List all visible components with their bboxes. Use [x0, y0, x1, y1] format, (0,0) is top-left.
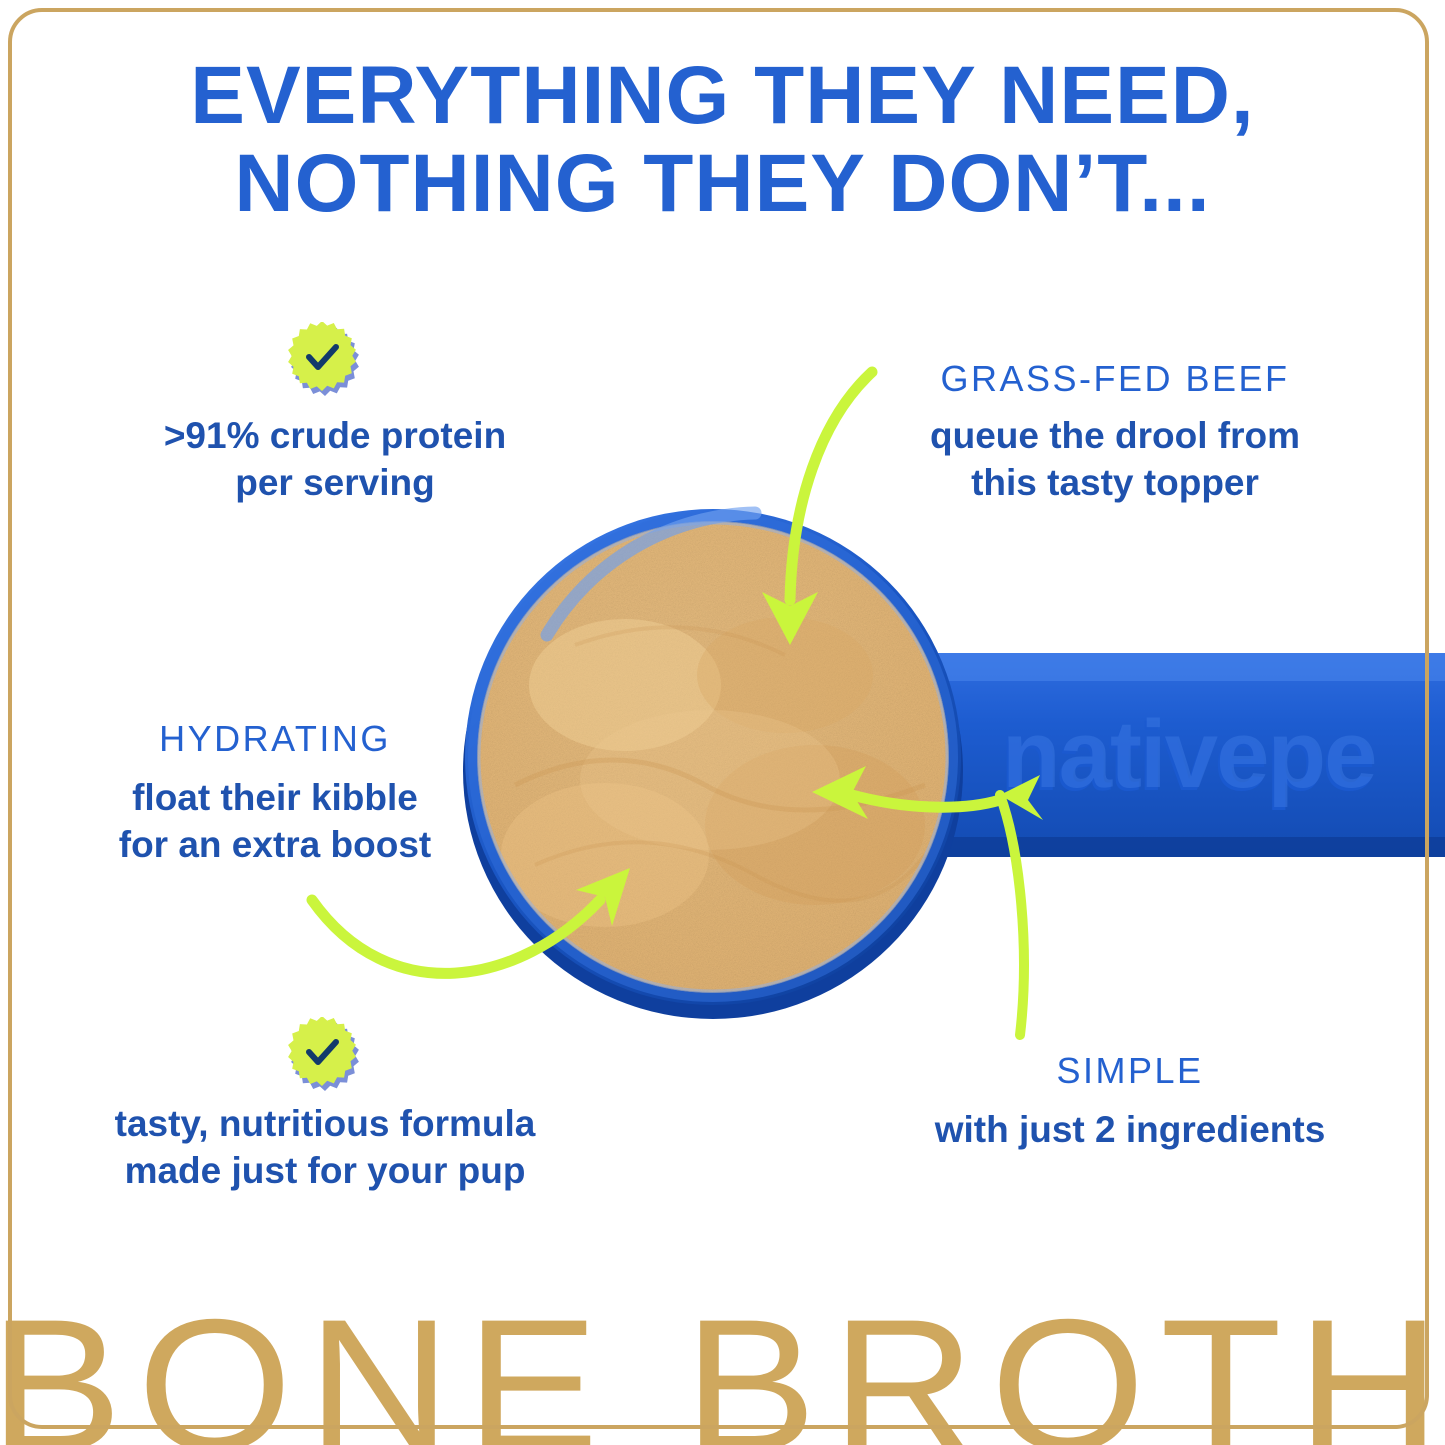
callout-hydrating: HYDRATING float their kibble for an extr… — [40, 718, 510, 868]
callout-crude-protein: >91% crude protein per serving — [75, 412, 595, 506]
page-title: EVERYTHING THEY NEED, NOTHING THEY DON’T… — [0, 52, 1445, 228]
headline-line-2: NOTHING THEY DON’T... — [0, 140, 1445, 228]
callout-line: with just 2 ingredients — [885, 1106, 1375, 1153]
wordmark-text: BONE BROTH — [0, 1300, 1445, 1445]
callout-grass-fed-beef-heading: GRASS-FED BEEF — [865, 358, 1365, 400]
check-badge-icon-protein — [287, 322, 363, 398]
product-photo-scoop: nativepe nativepe — [455, 485, 1445, 1085]
callout-simple-body: with just 2 ingredients — [885, 1106, 1375, 1153]
scoop-handle: nativepe nativepe — [885, 653, 1445, 857]
product-wordmark: BONE BROTH — [0, 1300, 1445, 1445]
callout-simple: SIMPLE with just 2 ingredients — [885, 1050, 1375, 1153]
check-badge-icon-formula — [287, 1017, 363, 1093]
callout-line: per serving — [75, 459, 595, 506]
callout-line: tasty, nutritious formula — [65, 1100, 585, 1147]
callout-hydrating-heading: HYDRATING — [40, 718, 510, 760]
callout-line: queue the drool from — [865, 412, 1365, 459]
callout-line: float their kibble — [40, 774, 510, 821]
callout-line: made just for your pup — [65, 1147, 585, 1194]
callout-line: >91% crude protein — [75, 412, 595, 459]
scoop-bowl — [463, 509, 963, 1019]
callout-tasty-nutritious-body: tasty, nutritious formula made just for … — [65, 1100, 585, 1194]
callout-grass-fed-beef: GRASS-FED BEEF queue the drool from this… — [865, 358, 1365, 506]
svg-text:nativepe: nativepe — [1002, 701, 1375, 808]
callout-crude-protein-body: >91% crude protein per serving — [75, 412, 595, 506]
callout-grass-fed-beef-body: queue the drool from this tasty topper — [865, 412, 1365, 506]
headline-line-1: EVERYTHING THEY NEED, — [190, 50, 1254, 141]
callout-tasty-nutritious: tasty, nutritious formula made just for … — [65, 1100, 585, 1194]
callout-hydrating-body: float their kibble for an extra boost — [40, 774, 510, 868]
product-infographic: EVERYTHING THEY NEED, NOTHING THEY DON’T… — [0, 0, 1445, 1445]
callout-line: for an extra boost — [40, 821, 510, 868]
callout-line: this tasty topper — [865, 459, 1365, 506]
callout-simple-heading: SIMPLE — [885, 1050, 1375, 1092]
